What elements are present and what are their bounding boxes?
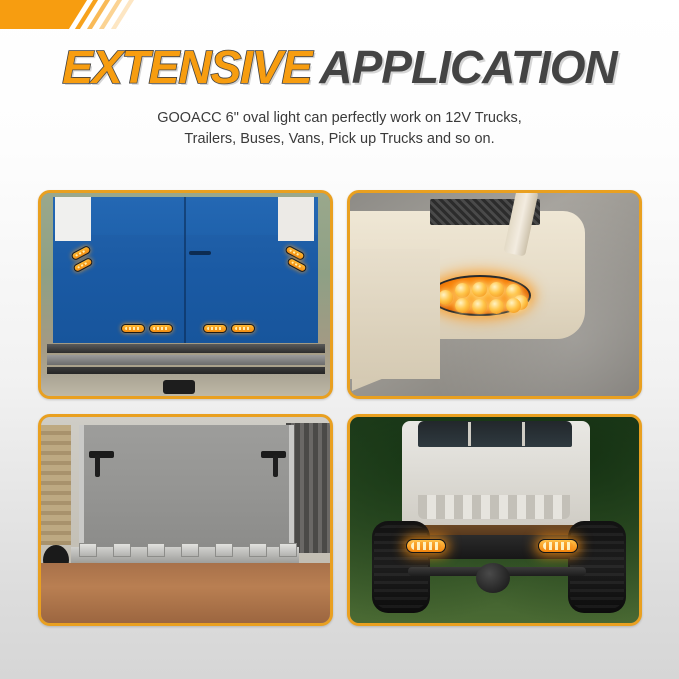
photo3-dirt-ground [41, 563, 330, 623]
photo1-trailer-hitch [163, 380, 195, 394]
photo-pickup-chassis [347, 414, 642, 626]
photo4-led-light-right [538, 539, 578, 553]
photo1-bumper-upper [47, 344, 325, 353]
photo2-led-8 [472, 299, 487, 314]
photo2-led-2 [455, 283, 470, 298]
corner-orange-block [0, 0, 87, 29]
photo1-door-handle [189, 251, 211, 255]
photo1-led-light-lower-2 [149, 324, 173, 333]
photo1-white-trim-right [278, 197, 314, 241]
photo3-deck-clip-6 [249, 543, 267, 557]
photo2-led-7 [455, 298, 470, 313]
photo3-latch-left [89, 451, 114, 458]
photo1-led-light-lower-4 [231, 324, 255, 333]
photo3-latch-bar-left [95, 455, 100, 477]
photo4-differential [476, 563, 510, 593]
photo2-frame-lower-section [350, 249, 440, 379]
photo-gray-trailer [38, 414, 333, 626]
photo3-deck-clip-4 [181, 543, 199, 557]
subtitle-line-1: GOOACC 6" oval light can perfectly work … [0, 108, 679, 129]
photo2-led-4 [489, 282, 504, 297]
photo1-led-light-lower-1 [121, 324, 145, 333]
photo3-deck-clip-7 [279, 543, 297, 557]
photo4-cab-vents [418, 495, 570, 519]
photo-blue-box-truck [38, 190, 333, 399]
photo3-rear-door-panel [79, 425, 294, 553]
headline-highlight-word: EXTENSIVE [62, 41, 311, 93]
photo2-led-9 [489, 299, 504, 314]
photo2-led-1 [438, 290, 453, 305]
photo1-white-trim-left [55, 197, 91, 241]
photo4-window-divider-1 [468, 422, 471, 446]
photo1-led-light-lower-3 [203, 324, 227, 333]
page-title: EXTENSIVEAPPLICATION [0, 44, 679, 90]
photo2-oval-led-light [429, 275, 531, 316]
application-photo-gallery [38, 190, 642, 625]
photo2-led-3 [472, 282, 487, 297]
photo3-deck-clip-1 [79, 543, 97, 557]
photo1-door-seam [184, 197, 186, 343]
subtitle-line-2: Trailers, Buses, Vans, Pick up Trucks an… [0, 129, 679, 150]
photo-oval-light-closeup [347, 190, 642, 399]
photo4-rear-window [418, 421, 572, 447]
photo2-led-10 [506, 298, 521, 313]
corner-decoration [0, 0, 200, 32]
photo3-wood-fence-left [41, 425, 71, 545]
photo3-latch-bar-right [273, 455, 278, 477]
photo3-deck-clip-2 [113, 543, 131, 557]
photo3-deck-clip-5 [215, 543, 233, 557]
photo3-deck-clip-3 [147, 543, 165, 557]
page-subtitle: GOOACC 6" oval light can perfectly work … [0, 108, 679, 150]
photo4-led-light-left [406, 539, 446, 553]
photo4-window-divider-2 [522, 422, 525, 446]
headline-main-word: APPLICATION [319, 41, 616, 93]
photo1-bumper-middle [47, 355, 325, 365]
